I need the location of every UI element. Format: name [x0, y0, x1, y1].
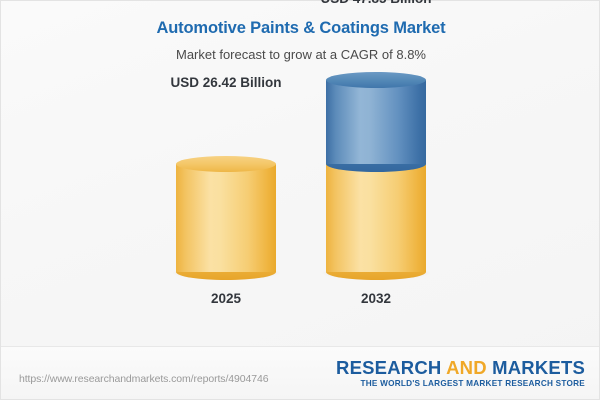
infographic-card: Automotive Paints & Coatings Market Mark…: [0, 0, 600, 400]
cylinder-cap-2025: [176, 156, 276, 172]
bar-cylinder-2025: [176, 164, 276, 272]
bar-segment-growth-2032: [326, 80, 426, 164]
bar-segment-base-2025: [176, 164, 276, 272]
chart-plot-area: USD 26.42 Billion 2025 USD 47.85 Billion: [1, 1, 600, 346]
category-label-2025: 2025: [156, 291, 296, 306]
logo-tagline: THE WORLD'S LARGEST MARKET RESEARCH STOR…: [336, 379, 585, 388]
bar-cylinder-2032: [326, 80, 426, 272]
report-url[interactable]: https://www.researchandmarkets.com/repor…: [19, 373, 268, 385]
logo-wordmark: RESEARCH AND MARKETS: [336, 358, 585, 377]
category-label-2032: 2032: [306, 291, 446, 306]
logo-text-markets: MARKETS: [487, 357, 585, 378]
bar-value-label-2032: USD 47.85 Billion: [306, 0, 446, 6]
logo-text-research: RESEARCH: [336, 357, 446, 378]
bar-value-label-2025: USD 26.42 Billion: [156, 75, 296, 90]
research-and-markets-logo[interactable]: RESEARCH AND MARKETS THE WORLD'S LARGEST…: [336, 358, 585, 388]
cylinder-body-2025: [176, 164, 276, 272]
footer-bar: https://www.researchandmarkets.com/repor…: [1, 346, 599, 399]
cylinder-body-growth-2032: [326, 80, 426, 164]
logo-text-and: AND: [446, 357, 487, 378]
cylinder-body-base-2032: [326, 164, 426, 272]
bar-segment-base-2032: [326, 164, 426, 272]
cylinder-cap-2032: [326, 72, 426, 88]
